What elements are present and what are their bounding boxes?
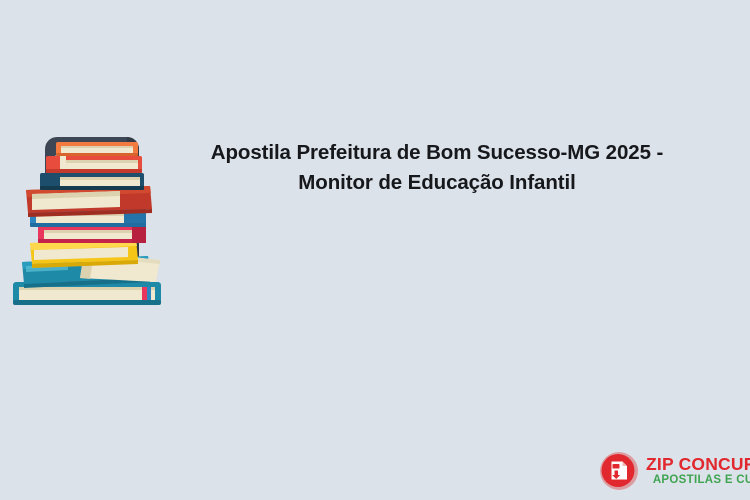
page-title: Apostila Prefeitura de Bom Sucesso-MG 20… bbox=[178, 138, 696, 198]
brand-tagline: APOSTILAS E CURSOS bbox=[646, 474, 750, 487]
book-yellow bbox=[30, 239, 138, 268]
stack-of-books-and-tablet-illustration bbox=[8, 110, 178, 315]
book-maroon bbox=[26, 186, 152, 217]
brand-logo: ZIP CONCURSOS APOSTILAS E CURSOS bbox=[599, 450, 741, 492]
promo-banner: Apostila Prefeitura de Bom Sucesso-MG 20… bbox=[0, 0, 750, 500]
book-orange-top bbox=[56, 142, 138, 156]
brand-name: ZIP CONCURSOS bbox=[646, 455, 750, 474]
book-red bbox=[46, 156, 142, 173]
zip-concursos-pdf-icon bbox=[599, 451, 639, 491]
book-pink bbox=[38, 226, 146, 243]
book-navy bbox=[40, 173, 144, 190]
brand-wordmark: ZIP CONCURSOS APOSTILAS E CURSOS bbox=[646, 455, 750, 487]
